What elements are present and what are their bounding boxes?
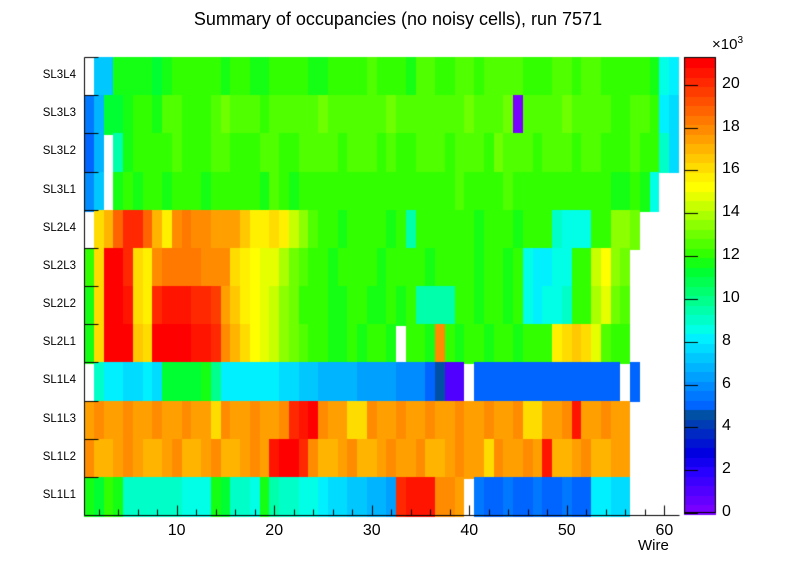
x-axis-tick-label: 30 bbox=[342, 523, 402, 539]
x-axis-tick-label: 10 bbox=[147, 523, 207, 539]
y-axis-tick-label: SL3L4 bbox=[14, 70, 76, 82]
colorbar-tick-label: 16 bbox=[722, 161, 740, 177]
colorbar-tick-label: 14 bbox=[722, 204, 740, 220]
x-axis-tick-label: 40 bbox=[439, 523, 499, 539]
colorbar-tick-label: 10 bbox=[722, 290, 740, 306]
x-axis-tick-label: 50 bbox=[537, 523, 597, 539]
colorbar-exponent-power: 3 bbox=[737, 35, 743, 46]
y-axis-tick-label: SL1L4 bbox=[14, 375, 76, 387]
colorbar-exponent-mantissa: ×10 bbox=[712, 36, 737, 53]
colorbar-tick-label: 4 bbox=[722, 418, 731, 434]
colorbar-tick-label: 0 bbox=[722, 504, 731, 520]
page-title: Summary of occupancies (no noisy cells),… bbox=[0, 10, 796, 28]
colorbar-tick-label: 8 bbox=[722, 333, 731, 349]
colorbar-tick-label: 12 bbox=[722, 247, 740, 263]
x-axis-tick-label: 60 bbox=[634, 523, 694, 539]
y-axis-tick-label: SL2L3 bbox=[14, 261, 76, 273]
y-axis-tick-label: SL2L2 bbox=[14, 299, 76, 311]
y-axis-tick-label: SL1L2 bbox=[14, 452, 76, 464]
y-axis-tick-label: SL3L3 bbox=[14, 108, 76, 120]
y-axis-tick-label: SL1L3 bbox=[14, 414, 76, 426]
occupancy-heatmap-canvas[interactable] bbox=[0, 0, 796, 572]
colorbar-tick-label: 6 bbox=[722, 376, 731, 392]
y-axis-tick-label: SL2L1 bbox=[14, 337, 76, 349]
plot-canvas-container bbox=[0, 0, 796, 572]
y-axis-tick-label: SL1L1 bbox=[14, 490, 76, 502]
y-axis-tick-label: SL3L1 bbox=[14, 185, 76, 197]
colorbar-tick-label: 2 bbox=[722, 461, 731, 477]
colorbar-tick-label: 20 bbox=[722, 76, 740, 92]
y-axis-tick-label: SL3L2 bbox=[14, 146, 76, 158]
y-axis-tick-label: SL2L4 bbox=[14, 223, 76, 235]
colorbar-exponent-label: ×103 bbox=[712, 36, 743, 52]
colorbar-tick-label: 18 bbox=[722, 119, 740, 135]
x-axis-title: Wire bbox=[638, 538, 669, 553]
x-axis-tick-label: 20 bbox=[244, 523, 304, 539]
